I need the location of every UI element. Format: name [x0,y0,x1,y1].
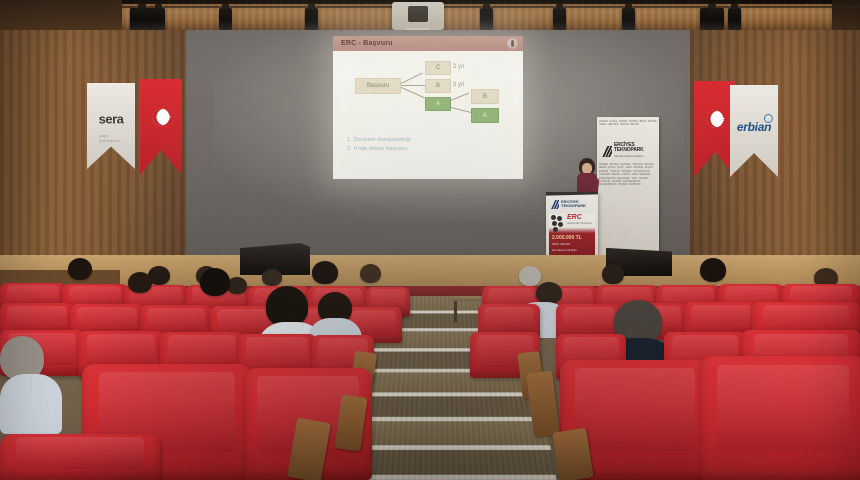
slide-bullet-2: 2. Proje tekrar başvuru [347,146,407,152]
flow-label-b-years: 3 yıl [453,82,464,88]
flow-node-b: B [425,79,451,93]
flow-label-c-years: 2 yıl [453,64,464,70]
audience-head [312,261,338,284]
poster-headline: 2.000.000 TL [552,235,582,241]
stage-spotlight [305,8,318,30]
audience-torso [0,374,62,434]
conference-hall-photo: ERC - Başvuru Başvuru C 2 yıl B 3 yıl A … [0,0,860,480]
audience-head [602,264,624,284]
audience-head [360,264,381,283]
lectern-poster: ERC Girişimcilik Yarışması 2.000.000 TL … [549,213,595,261]
stage-spotlight [152,8,165,30]
crescent-star-icon [153,109,170,126]
audience-head [200,268,230,296]
teknopark-logo: ERCİYES TEKNOPARK Teknoloji Geliştirme B… [601,143,655,159]
projector-lens [408,6,428,22]
teknopark-wordmark: ERCİYES TEKNOPARK Teknoloji Geliştirme B… [614,143,644,159]
slide-bullet-1: 1. Deneme danışmanlığı [347,137,411,143]
lectern-brand-line2: TEKNOPARK [561,203,586,208]
flow-node-root: Başvuru [355,78,401,94]
flow-node-a2: A [471,108,499,123]
flag-cloth [140,79,182,175]
audience-head [519,266,541,286]
poster-dot-graphic [551,215,566,232]
slide-title-bar: ERC - Başvuru [333,36,523,51]
sponsor-pennant-sera: sera yapı sistemleri [87,83,135,169]
lectern-wordmark: ERCİYES TEKNOPARK [561,200,586,209]
poster-line-2: Son başvuru 30 Eylül [552,249,577,252]
presenter-laptop [546,192,598,196]
rollup-sponsor-names-top: AKSAN ALTAŞ ASPAR BURSA BİLİM BİLTEK ARM… [599,120,657,140]
sera-brand-text: sera [99,112,124,127]
audience-head [68,258,92,280]
flow-connector [399,85,425,86]
sera-tagline: yapı sistemleri [99,133,123,143]
audience-head [266,286,308,326]
flow-node-b2: B [471,89,499,104]
slide-body: Başvuru C 2 yıl B 3 yıl A B A 1. Deneme … [333,51,523,179]
audience-head [128,272,152,293]
sera-wordmark: sera [99,112,124,127]
projection-screen: ERC - Başvuru Başvuru C 2 yıl B 3 yıl A … [333,36,523,179]
stage-spotlight [480,8,493,30]
lectern-teknopark-logo: ERCİYES TEKNOPARK [550,198,594,210]
university-crest-logo [507,38,518,49]
stage-spotlight [130,8,154,30]
erbian-wordmark: erbian [737,120,771,134]
flow-node-a: A [425,97,451,111]
flow-node-c: C [425,61,451,75]
audience-head [700,258,726,282]
teknopark-mark-icon [601,146,612,157]
slide-title: ERC - Başvuru [341,40,393,47]
ceiling-left-panel [0,0,122,34]
flow-connector [399,73,423,85]
turkish-flag-left [140,79,182,175]
crescent-star-icon [707,111,724,128]
poster-subtitle: Girişimcilik Yarışması [567,222,592,225]
teknopark-tagline: Teknoloji Geliştirme Bölgesi [614,154,644,159]
teknopark-brand-line2: TEKNOPARK [614,147,644,153]
poster-line-1: ÖDÜL HAVUZU [552,243,570,246]
side-table-leg [454,301,457,322]
flow-connector [399,86,425,98]
stage-spotlight [219,8,232,30]
stage-spotlight [553,8,566,30]
poster-title: ERC [567,214,582,221]
ceiling-projector [392,2,444,30]
sponsor-pennant-erbian: erbian [730,85,778,177]
audience-head [262,269,282,286]
audience-head [536,282,562,304]
auditorium-seat [0,434,160,480]
auditorium-seat [700,356,860,480]
stage-spotlight [700,8,724,30]
stage-spotlight [728,8,741,30]
audience-head [227,277,247,294]
stage-spotlight [622,8,635,30]
teknopark-mark-icon [550,200,559,209]
